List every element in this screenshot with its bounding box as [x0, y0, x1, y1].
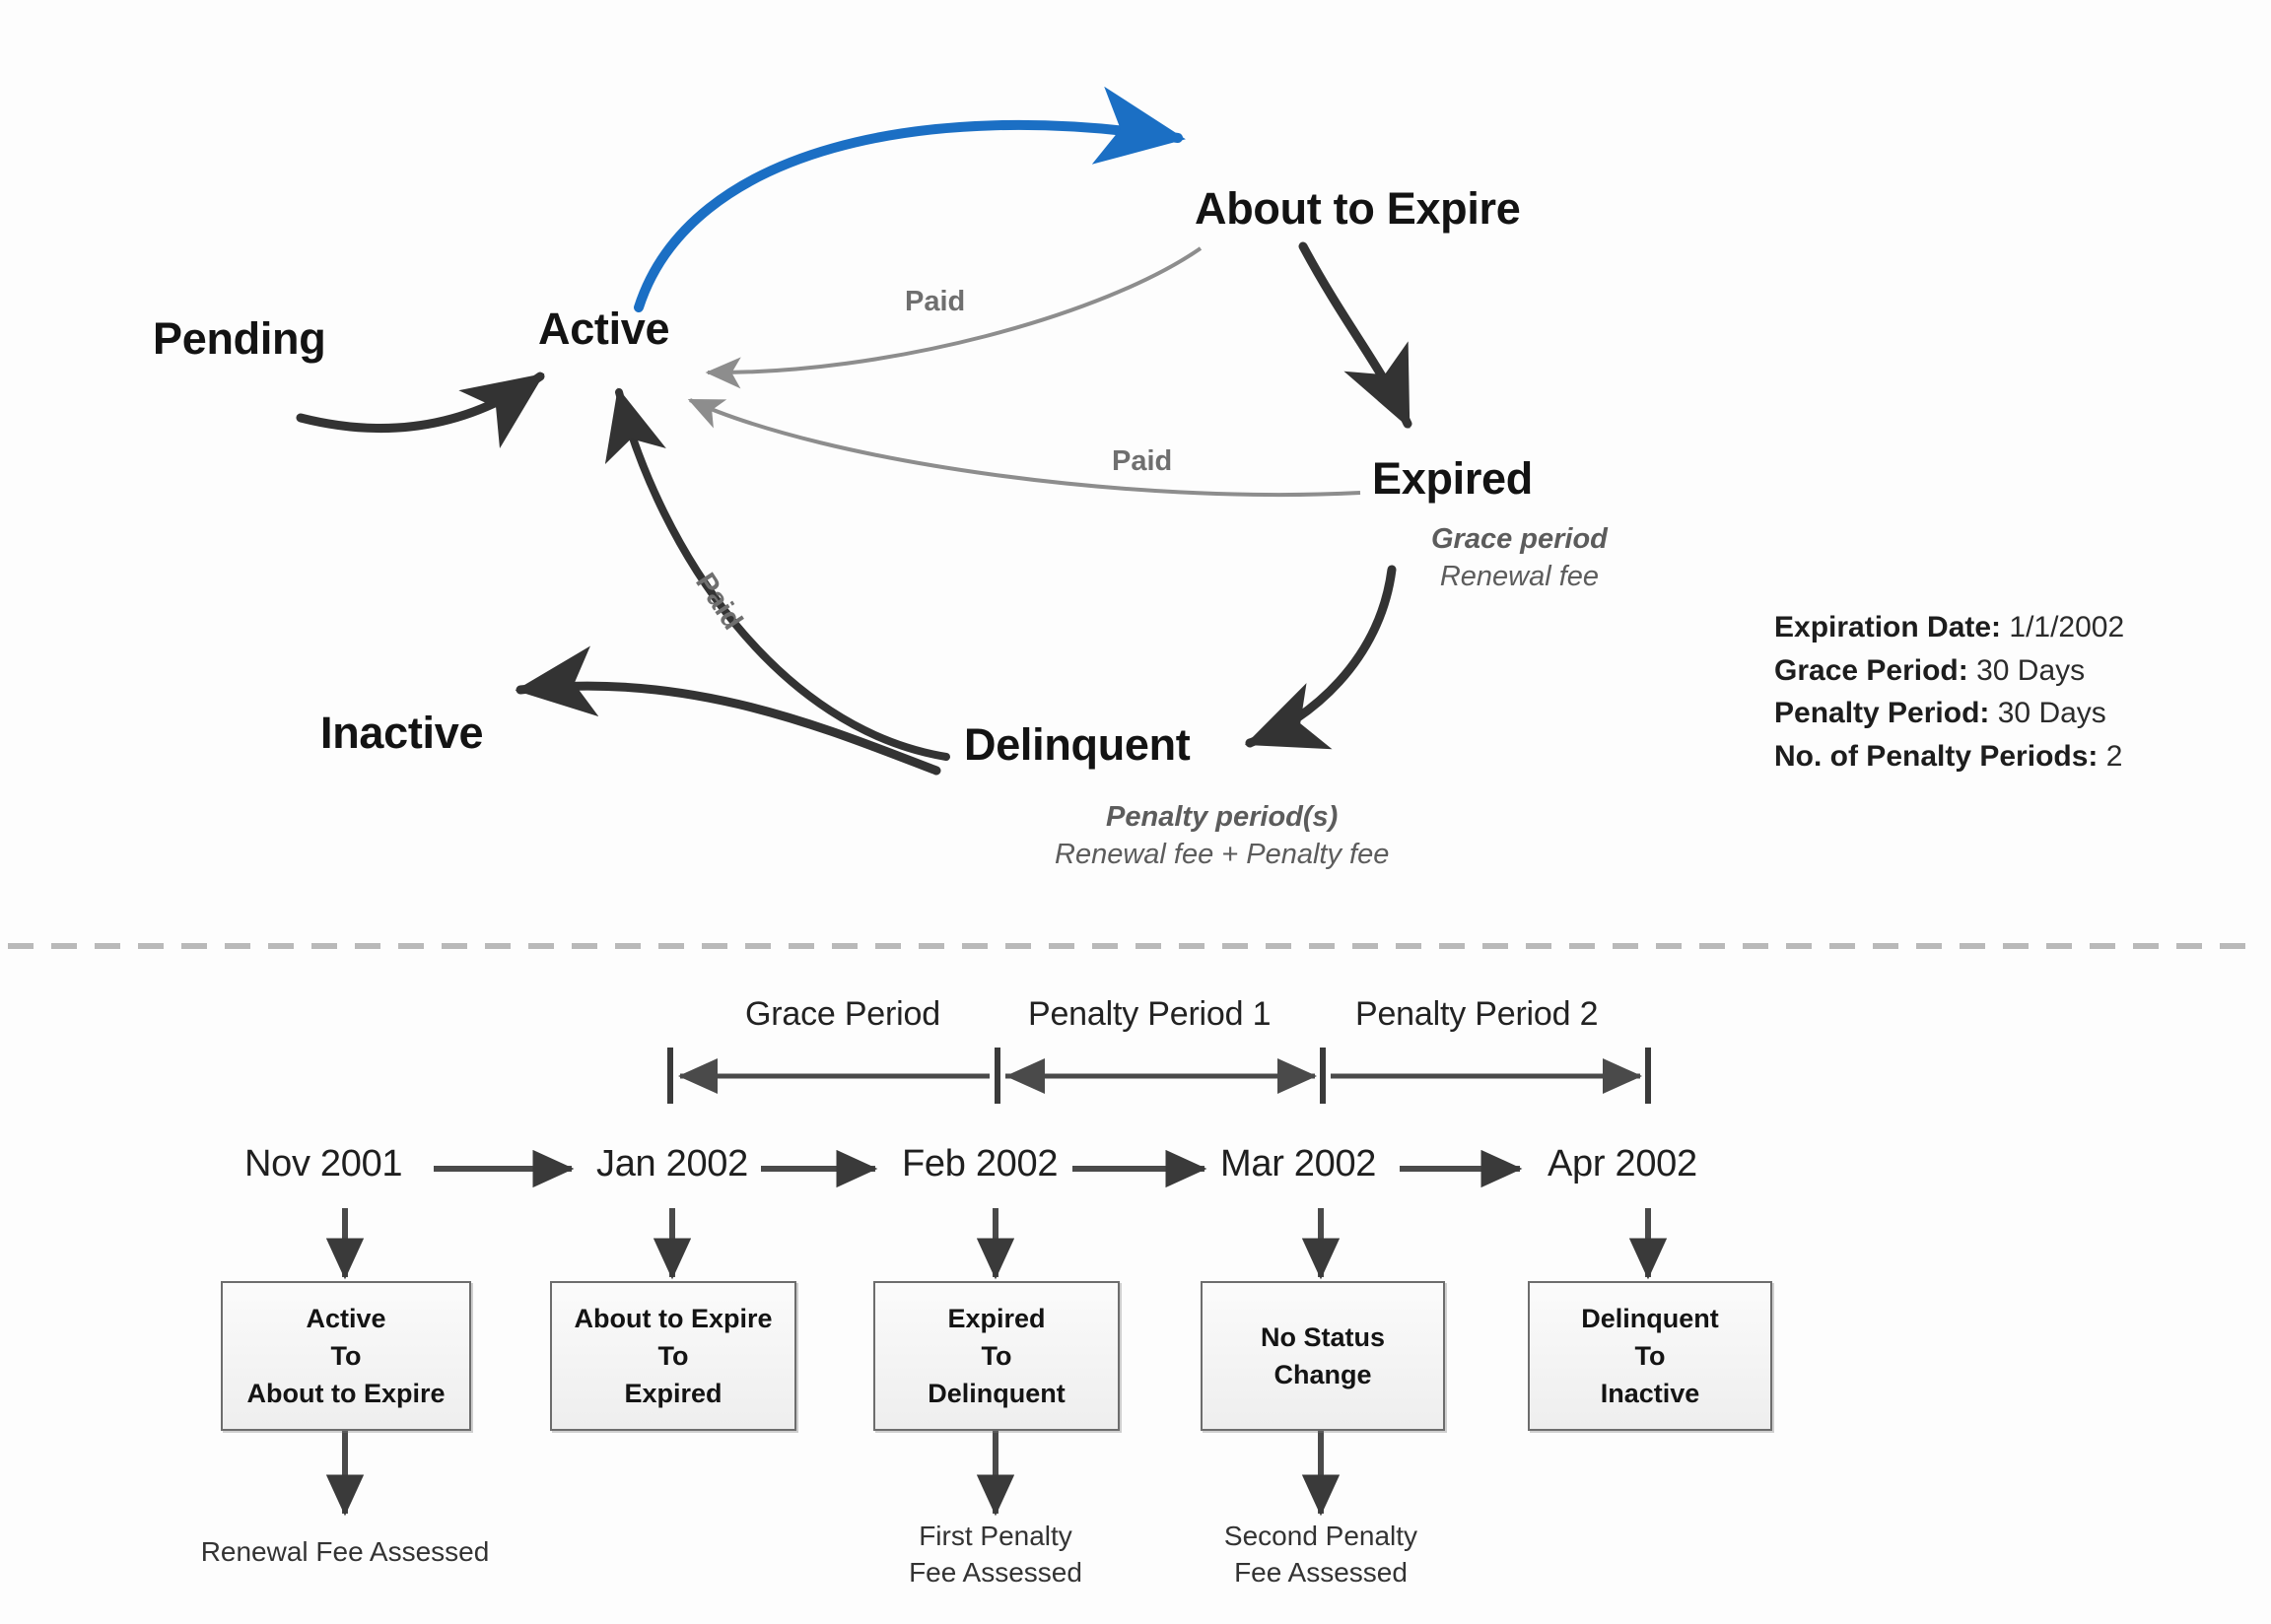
state-node-about-to-expire[interactable]: About to Expire — [1195, 183, 1521, 235]
timeline-date-mar-2002: Mar 2002 — [1220, 1143, 1376, 1186]
status-box-nov-line1: Active — [306, 1300, 385, 1337]
legend-value-expiration-date: 1/1/2002 — [2009, 611, 2124, 643]
fee-note-first-penalty-line2: Fee Assessed — [848, 1554, 1143, 1590]
status-box-mar-line1: No Status — [1261, 1319, 1385, 1356]
status-box-mar[interactable]: No Status Change — [1201, 1281, 1445, 1431]
timeline-date-feb-2002: Feb 2002 — [902, 1143, 1058, 1186]
edge-pending-to-active — [301, 376, 540, 429]
legend-row-grace-period: Grace Period: 30 Days — [1774, 649, 2124, 693]
period-label-grace: Grace Period — [745, 995, 940, 1034]
fee-note-second-penalty-line1: Second Penalty — [1173, 1518, 1469, 1554]
period-label-penalty-1: Penalty Period 1 — [1028, 995, 1271, 1034]
edge-expired-to-active — [690, 400, 1360, 495]
legend-row-penalty-period: Penalty Period: 30 Days — [1774, 692, 2124, 735]
edge-label-paid-about-to-expire: Paid — [905, 286, 965, 318]
period-bar — [670, 1048, 1648, 1104]
status-box-feb[interactable]: Expired To Delinquent — [873, 1281, 1120, 1431]
status-box-nov[interactable]: Active To About to Expire — [221, 1281, 471, 1431]
fee-note-first-penalty: First Penalty Fee Assessed — [848, 1518, 1143, 1590]
status-box-jan-line1: About to Expire — [575, 1300, 773, 1337]
state-node-pending[interactable]: Pending — [153, 313, 325, 365]
state-node-inactive[interactable]: Inactive — [320, 708, 483, 759]
parameters-legend: Expiration Date: 1/1/2002 Grace Period: … — [1774, 606, 2124, 778]
legend-value-penalty-period: 30 Days — [1998, 697, 2106, 729]
edge-delinquent-to-active — [619, 392, 946, 757]
period-label-penalty-2: Penalty Period 2 — [1355, 995, 1598, 1034]
state-node-delinquent[interactable]: Delinquent — [964, 719, 1191, 771]
edge-delinquent-to-inactive — [520, 686, 936, 771]
annotation-delinquent: Penalty period(s) Renewal fee + Penalty … — [1055, 798, 1389, 874]
legend-value-num-penalty-periods: 2 — [2106, 740, 2123, 773]
edge-about-to-expire-to-expired — [1303, 246, 1408, 424]
legend-value-grace-period: 30 Days — [1976, 654, 2085, 687]
legend-key-grace-period: Grace Period: — [1774, 654, 1968, 687]
diagram-page: Pending Active About to Expire Expired D… — [0, 0, 2271, 1624]
timeline-date-nov-2001: Nov 2001 — [244, 1143, 402, 1186]
status-box-feb-line1: Expired — [947, 1300, 1045, 1337]
status-box-apr-line3: Inactive — [1601, 1375, 1700, 1412]
fee-note-renewal-line1: Renewal Fee Assessed — [148, 1533, 542, 1570]
annotation-delinquent-line2: Renewal fee + Penalty fee — [1055, 836, 1389, 873]
state-node-expired[interactable]: Expired — [1372, 453, 1533, 505]
status-box-nov-line3: About to Expire — [247, 1375, 446, 1412]
status-box-mar-line2: Change — [1273, 1356, 1371, 1393]
timeline-date-apr-2002: Apr 2002 — [1548, 1143, 1697, 1186]
legend-key-penalty-period: Penalty Period: — [1774, 697, 1989, 729]
fee-note-first-penalty-line1: First Penalty — [848, 1518, 1143, 1554]
legend-row-expiration-date: Expiration Date: 1/1/2002 — [1774, 606, 2124, 649]
box-to-note-connectors — [345, 1431, 1321, 1514]
legend-key-num-penalty-periods: No. of Penalty Periods: — [1774, 740, 2098, 773]
annotation-expired-line2: Renewal fee — [1431, 558, 1608, 595]
fee-note-renewal: Renewal Fee Assessed — [148, 1533, 542, 1570]
status-box-feb-line3: Delinquent — [928, 1375, 1066, 1412]
status-box-nov-line2: To — [331, 1337, 362, 1375]
fee-note-second-penalty-line2: Fee Assessed — [1173, 1554, 1469, 1590]
annotation-expired: Grace period Renewal fee — [1431, 520, 1608, 596]
timeline-date-jan-2002: Jan 2002 — [596, 1143, 748, 1186]
status-box-apr[interactable]: Delinquent To Inactive — [1528, 1281, 1772, 1431]
annotation-delinquent-line1: Penalty period(s) — [1055, 798, 1389, 836]
edge-active-to-about-to-expire — [639, 125, 1178, 307]
legend-row-num-penalty-periods: No. of Penalty Periods: 2 — [1774, 735, 2124, 778]
edge-label-paid-expired: Paid — [1112, 445, 1172, 478]
status-box-apr-line2: To — [1635, 1337, 1666, 1375]
status-box-jan[interactable]: About to Expire To Expired — [550, 1281, 796, 1431]
edge-expired-to-delinquent — [1250, 570, 1392, 743]
legend-key-expiration-date: Expiration Date: — [1774, 611, 2001, 643]
annotation-expired-line1: Grace period — [1431, 520, 1608, 558]
fee-note-second-penalty: Second Penalty Fee Assessed — [1173, 1518, 1469, 1590]
status-box-jan-line3: Expired — [624, 1375, 722, 1412]
date-to-box-connectors — [345, 1208, 1648, 1277]
status-box-jan-line2: To — [658, 1337, 689, 1375]
status-box-apr-line1: Delinquent — [1581, 1300, 1719, 1337]
status-box-feb-line2: To — [982, 1337, 1012, 1375]
state-node-active[interactable]: Active — [538, 304, 669, 355]
